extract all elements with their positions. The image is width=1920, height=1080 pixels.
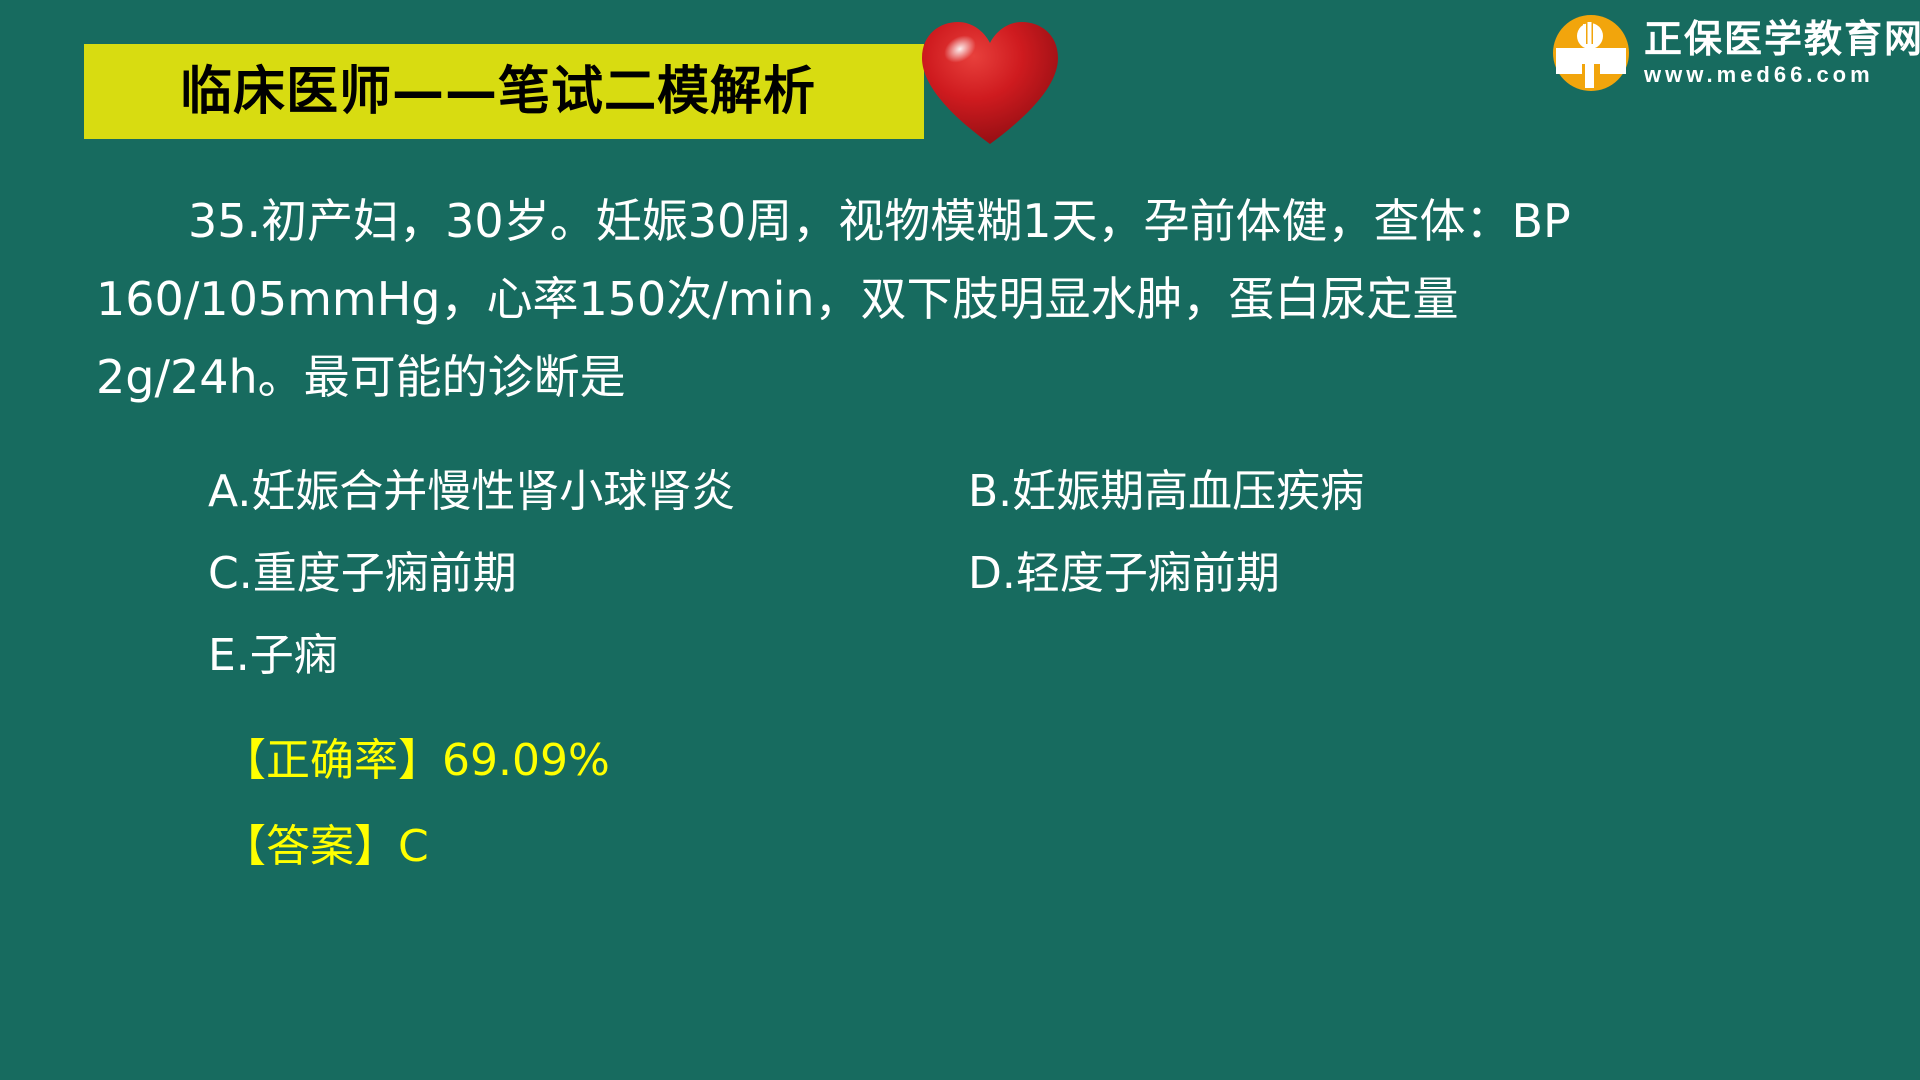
logo-wordmark: 正保医学教育网 www.med66.com xyxy=(1644,20,1920,86)
correct-answer: 【答案】C xyxy=(222,804,610,890)
options-list: A.妊娠合并慢性肾小球肾炎 B.妊娠期高血压疾病 C.重度子痫前期 D.轻度子痫… xyxy=(208,462,1808,708)
logo-url: www.med66.com xyxy=(1644,64,1920,86)
answer-block: 【正确率】69.09% 【答案】C xyxy=(222,718,610,890)
question-stem: 35.初产妇，30岁。妊娠30周，视物模糊1天，孕前体健，查体：BP 160/1… xyxy=(96,182,1836,416)
option-b[interactable]: B.妊娠期高血压疾病 xyxy=(968,462,1364,522)
option-d[interactable]: D.轻度子痫前期 xyxy=(968,544,1280,604)
site-logo: 正保医学教育网 www.med66.com xyxy=(1552,14,1920,92)
option-a[interactable]: A.妊娠合并慢性肾小球肾炎 xyxy=(208,462,968,522)
option-c[interactable]: C.重度子痫前期 xyxy=(208,544,968,604)
heart-icon xyxy=(920,18,1060,150)
page-title: 临床医师——笔试二模解析 xyxy=(180,66,816,118)
title-banner: 临床医师——笔试二模解析 xyxy=(84,44,924,139)
logo-name: 正保医学教育网 xyxy=(1644,20,1920,58)
medical-cross-circle-icon xyxy=(1552,14,1630,92)
option-row: A.妊娠合并慢性肾小球肾炎 B.妊娠期高血压疾病 xyxy=(208,462,1808,544)
option-row: E.子痫 xyxy=(208,626,1808,708)
question-line-3: 2g/24h。最可能的诊断是 xyxy=(96,338,1836,416)
option-row: C.重度子痫前期 D.轻度子痫前期 xyxy=(208,544,1808,626)
option-e[interactable]: E.子痫 xyxy=(208,626,968,686)
slide-canvas: 临床医师——笔试二模解析 xyxy=(0,0,1920,1080)
question-line-1: 35.初产妇，30岁。妊娠30周，视物模糊1天，孕前体健，查体：BP xyxy=(96,182,1836,260)
accuracy-rate: 【正确率】69.09% xyxy=(222,718,610,804)
question-line-2: 160/105mmHg，心率150次/min，双下肢明显水肿，蛋白尿定量 xyxy=(96,260,1836,338)
